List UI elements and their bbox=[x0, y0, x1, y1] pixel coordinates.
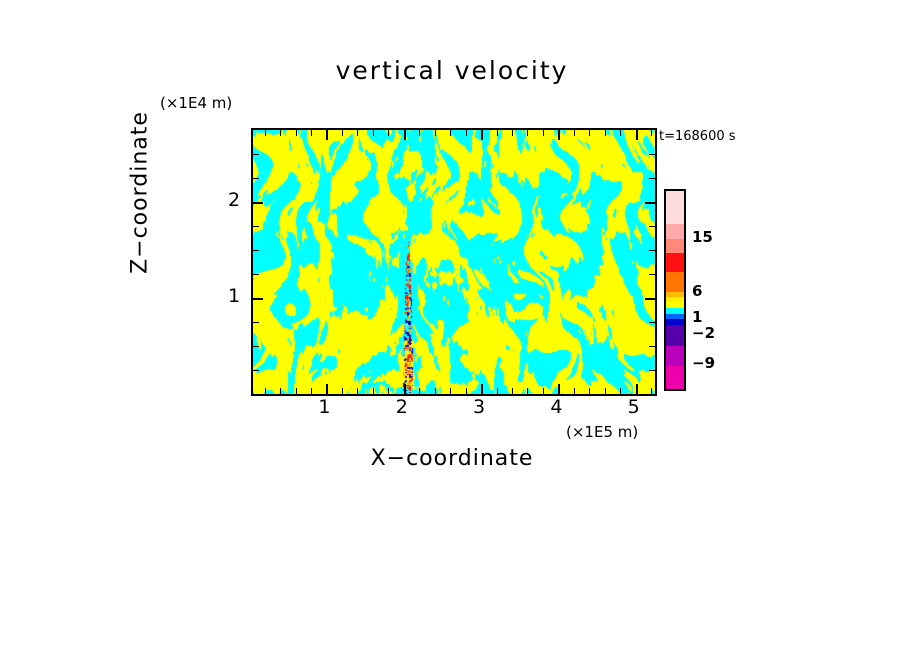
colorbar-band bbox=[666, 325, 684, 347]
x-axis-title-text: X−coordinate bbox=[371, 446, 534, 471]
vertical-velocity-field bbox=[253, 130, 655, 394]
y-axis-tick bbox=[253, 322, 259, 323]
x-axis-tick-top bbox=[450, 130, 451, 136]
x-axis-title: X−coordinate bbox=[251, 446, 653, 471]
x-tick-label: 4 bbox=[550, 396, 562, 418]
figure-canvas: vertical velocity (×1E4 m) t=168600 s Z−… bbox=[0, 0, 904, 654]
y-axis-tick bbox=[253, 298, 263, 300]
x-axis-tick-top bbox=[497, 130, 498, 136]
x-axis-tick bbox=[373, 388, 374, 394]
y-tick-label: 1 bbox=[228, 285, 240, 307]
x-axis-tick-top bbox=[466, 130, 467, 136]
y-axis-tick-right bbox=[649, 346, 655, 347]
x-tick-label: 5 bbox=[628, 396, 640, 418]
x-axis-tick bbox=[326, 384, 328, 394]
y-axis-tick bbox=[253, 202, 263, 204]
x-axis-tick bbox=[466, 388, 467, 394]
x-axis-tick bbox=[605, 388, 606, 394]
x-axis-tick-top bbox=[357, 130, 358, 136]
x-axis-tick-top bbox=[574, 130, 575, 136]
chart-title-text: vertical velocity bbox=[336, 56, 569, 85]
y-axis-tick bbox=[253, 370, 259, 371]
x-tick-label: 3 bbox=[473, 396, 485, 418]
x-axis-tick bbox=[311, 388, 312, 394]
x-axis-tick bbox=[512, 388, 513, 394]
x-axis-tick-top bbox=[435, 130, 436, 136]
x-axis-tick-top bbox=[388, 130, 389, 136]
x-axis-tick-top bbox=[620, 130, 621, 136]
x-axis-tick bbox=[558, 384, 560, 394]
x-axis-tick bbox=[620, 388, 621, 394]
x-axis-tick-top bbox=[296, 130, 297, 136]
x-axis-tick bbox=[357, 388, 358, 394]
x-axis-tick-top bbox=[558, 130, 560, 140]
y-axis-tick-right bbox=[649, 370, 655, 371]
x-axis-tick-top bbox=[543, 130, 544, 136]
x-axis-tick bbox=[543, 388, 544, 394]
z-axis-unit-label: (×1E4 m) bbox=[160, 94, 232, 112]
y-axis-tick bbox=[253, 250, 259, 251]
x-axis-tick bbox=[435, 388, 436, 394]
y-axis-tick bbox=[253, 154, 259, 155]
x-axis-tick bbox=[651, 388, 652, 394]
y-axis-tick-right bbox=[649, 154, 655, 155]
colorbar-band bbox=[666, 224, 684, 239]
x-axis-tick-top bbox=[589, 130, 590, 136]
x-axis-tick bbox=[481, 384, 483, 394]
x-axis-tick bbox=[589, 388, 590, 394]
contour-plot-area[interactable] bbox=[251, 128, 657, 396]
x-axis-tick bbox=[450, 388, 451, 394]
x-tick-label: 1 bbox=[318, 396, 330, 418]
x-tick-label: 2 bbox=[396, 396, 408, 418]
y-axis-tick bbox=[253, 346, 259, 347]
colorbar-band bbox=[666, 272, 684, 292]
x-axis-tick-top bbox=[280, 130, 281, 136]
colorbar-band bbox=[666, 253, 684, 272]
x-axis-tick bbox=[527, 388, 528, 394]
x-axis-tick bbox=[636, 384, 638, 394]
y-axis-tick-right bbox=[649, 274, 655, 275]
x-axis-tick-top bbox=[326, 130, 328, 140]
y-axis-title: Z−coordinate bbox=[128, 33, 153, 353]
x-axis-tick bbox=[574, 388, 575, 394]
x-axis-tick bbox=[388, 388, 389, 394]
y-axis-tick-right bbox=[649, 322, 655, 323]
colorbar-band bbox=[666, 346, 684, 366]
y-tick-label: 2 bbox=[228, 189, 240, 211]
y-axis-tick-right bbox=[649, 250, 655, 251]
x-axis-tick-top bbox=[527, 130, 528, 136]
colorbar-band bbox=[666, 239, 684, 254]
x-axis-tick-top bbox=[636, 130, 638, 140]
y-axis-tick-right bbox=[645, 202, 655, 204]
y-axis-tick bbox=[253, 226, 259, 227]
colorbar-tick-label: −2 bbox=[692, 324, 715, 342]
x-axis-tick bbox=[404, 384, 406, 394]
x-axis-tick bbox=[296, 388, 297, 394]
colorbar-band bbox=[666, 191, 684, 224]
x-axis-tick-top bbox=[373, 130, 374, 136]
x-axis-tick-top bbox=[605, 130, 606, 136]
y-axis-tick-right bbox=[649, 226, 655, 227]
x-axis-tick-top bbox=[481, 130, 483, 140]
x-axis-tick-top bbox=[342, 130, 343, 136]
y-axis-tick-right bbox=[649, 178, 655, 179]
colorbar[interactable] bbox=[664, 189, 686, 391]
y-axis-tick bbox=[253, 178, 259, 179]
x-axis-tick bbox=[497, 388, 498, 394]
colorbar-band bbox=[666, 366, 684, 389]
colorbar-tick-label: −9 bbox=[692, 354, 715, 372]
y-axis-tick bbox=[253, 274, 259, 275]
x-axis-tick bbox=[419, 388, 420, 394]
time-annotation: t=168600 s bbox=[659, 129, 736, 144]
x-axis-unit-label: (×1E5 m) bbox=[566, 423, 638, 441]
y-axis-tick-right bbox=[645, 298, 655, 300]
colorbar-tick-label: 6 bbox=[692, 282, 702, 300]
colorbar-tick-label: 15 bbox=[692, 228, 713, 246]
x-axis-tick-top bbox=[311, 130, 312, 136]
x-axis-tick bbox=[265, 388, 266, 394]
x-axis-tick-top bbox=[419, 130, 420, 136]
x-axis-tick bbox=[280, 388, 281, 394]
x-axis-tick bbox=[342, 388, 343, 394]
x-axis-tick-top bbox=[265, 130, 266, 136]
x-axis-tick-top bbox=[651, 130, 652, 136]
x-axis-tick-top bbox=[512, 130, 513, 136]
x-axis-tick-top bbox=[404, 130, 406, 140]
